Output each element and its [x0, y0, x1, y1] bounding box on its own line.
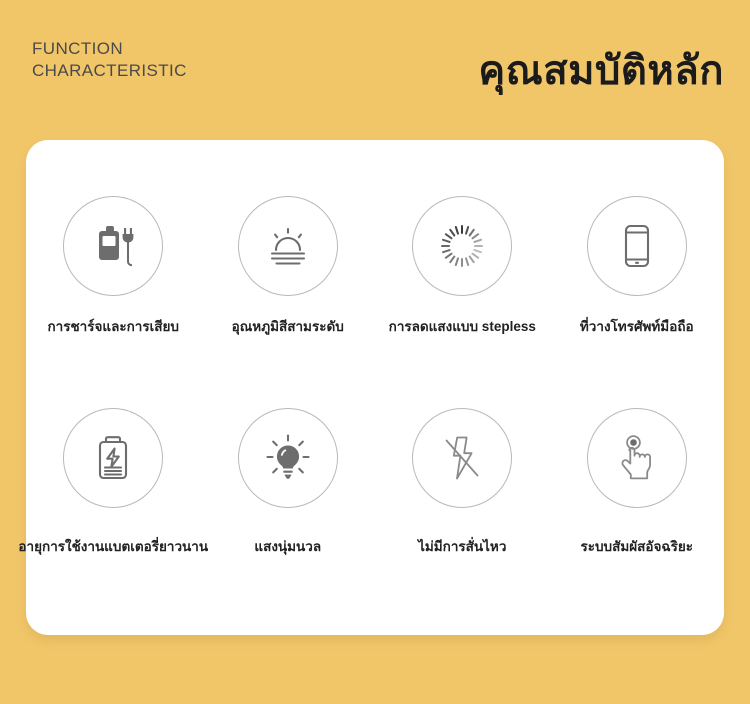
feature-item-color-temperature[interactable]: อุณหภูมิสีสามระดับ — [201, 196, 376, 336]
feature-label: อุณหภูมิสีสามระดับ — [232, 318, 344, 336]
battery-long-life-icon — [84, 429, 142, 487]
page-header: FUNCTION CHARACTERISTIC คุณสมบัติหลัก — [0, 0, 750, 140]
smartphone-icon — [608, 217, 666, 275]
icon-circle — [63, 196, 163, 296]
touch-hand-tap-icon — [608, 429, 666, 487]
feature-item-charging[interactable]: การชาร์จและการเสียบ — [26, 196, 201, 336]
feature-label: อายุการใช้งานแบตเตอรี่ยาวนาน — [18, 538, 208, 556]
eyebrow-line-1: FUNCTION — [32, 38, 187, 60]
stepless-dimming-ring-icon — [433, 217, 491, 275]
feature-item-phone-holder[interactable]: ที่วางโทรศัพท์มือถือ — [550, 196, 725, 336]
feature-label: ระบบสัมผัสอัจฉริยะ — [580, 538, 693, 556]
icon-circle — [412, 196, 512, 296]
feature-card: การชาร์จและการเสียบ — [26, 140, 724, 635]
feature-item-stepless-dimming[interactable]: การลดแสงแบบ stepless — [375, 196, 550, 336]
feature-label: ที่วางโทรศัพท์มือถือ — [580, 318, 694, 336]
feature-item-battery-life[interactable]: อายุการใช้งานแบตเตอรี่ยาวนาน — [26, 408, 201, 556]
feature-row-1: การชาร์จและการเสียบ — [26, 196, 724, 336]
no-flicker-bolt-slash-icon — [433, 429, 491, 487]
feature-label: ไม่มีการสั่นไหว — [418, 538, 506, 556]
icon-circle — [587, 408, 687, 508]
feature-item-no-flicker[interactable]: ไม่มีการสั่นไหว — [375, 408, 550, 556]
feature-label: การลดแสงแบบ stepless — [389, 318, 536, 336]
sunrise-three-lines-icon — [259, 217, 317, 275]
icon-circle — [238, 408, 338, 508]
icon-circle — [63, 408, 163, 508]
feature-row-2: อายุการใช้งานแบตเตอรี่ยาวนาน — [26, 408, 724, 556]
feature-label: การชาร์จและการเสียบ — [48, 318, 179, 336]
feature-item-soft-light[interactable]: แสงนุ่มนวล — [201, 408, 376, 556]
eyebrow-line-2: CHARACTERISTIC — [32, 60, 187, 82]
lightbulb-soft-light-icon — [259, 429, 317, 487]
icon-circle — [412, 408, 512, 508]
eyebrow-heading: FUNCTION CHARACTERISTIC — [32, 38, 187, 82]
icon-circle — [587, 196, 687, 296]
feature-label: แสงนุ่มนวล — [254, 538, 321, 556]
icon-circle — [238, 196, 338, 296]
page-title: คุณสมบัติหลัก — [478, 47, 724, 95]
battery-charging-plug-icon — [84, 217, 142, 275]
feature-item-smart-touch[interactable]: ระบบสัมผัสอัจฉริยะ — [550, 408, 725, 556]
